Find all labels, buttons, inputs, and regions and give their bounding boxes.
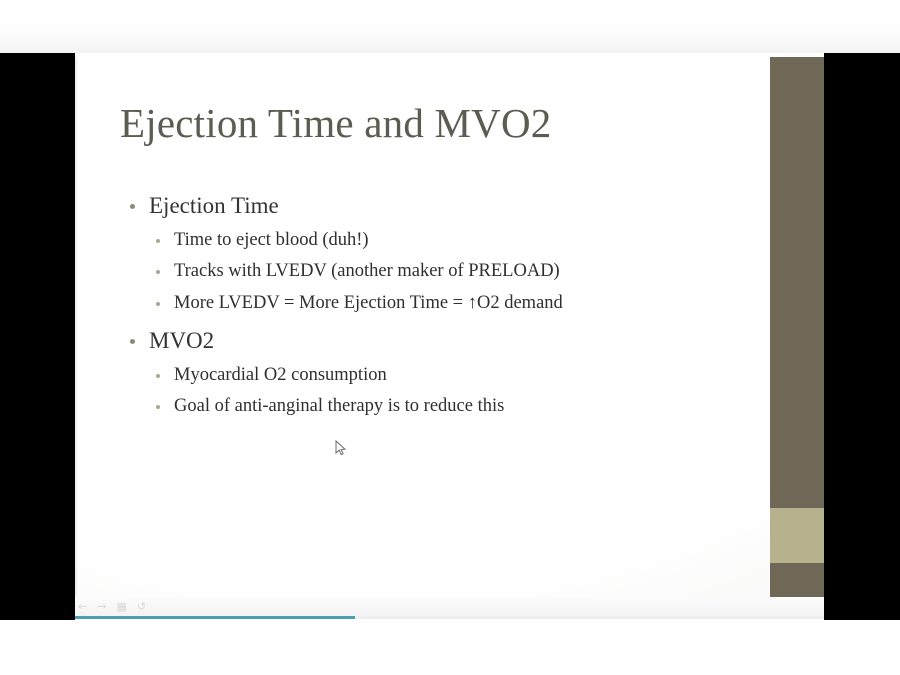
bullet-group: Ejection Time Time to eject blood (duh!)… — [121, 193, 741, 314]
bullet-level2-label: Tracks with LVEDV (another maker of PREL… — [174, 261, 560, 281]
bullet-dot-icon — [130, 339, 135, 344]
bullet-level1-label: Ejection Time — [149, 193, 279, 218]
bullet-dot-icon — [156, 239, 160, 243]
letterbox-left — [0, 53, 75, 620]
player-controls[interactable]: ← → ▦ ↺ — [78, 600, 146, 614]
letterbox-right — [824, 53, 900, 620]
progress-bar-fill — [75, 616, 355, 619]
bullet-dot-icon — [156, 302, 160, 306]
bullet-dot-icon — [156, 374, 160, 378]
bullet-level2: Myocardial O2 consumption — [121, 365, 741, 386]
bullet-level2: Tracks with LVEDV (another maker of PREL… — [121, 261, 741, 282]
slide-canvas: Ejection Time and MVO2 Ejection Time Tim… — [75, 57, 824, 618]
bullet-dot-icon — [130, 204, 135, 209]
bullet-level1-label: MVO2 — [149, 328, 214, 353]
bullet-level1: Ejection Time — [121, 193, 741, 219]
previous-slide-icon[interactable]: ← — [78, 600, 87, 614]
loop-icon[interactable]: ↺ — [137, 600, 146, 614]
next-slide-icon[interactable]: → — [97, 600, 106, 614]
mouse-pointer — [335, 440, 347, 456]
decorative-band-highlight — [770, 508, 824, 563]
bullet-group: MVO2 Myocardial O2 consumption Goal of a… — [121, 328, 741, 417]
bullet-level2-label: Myocardial O2 consumption — [174, 365, 387, 385]
bullet-level1: MVO2 — [121, 328, 741, 354]
presentation-viewer: Ejection Time and MVO2 Ejection Time Tim… — [0, 0, 900, 675]
bullet-level2: More LVEDV = More Ejection Time = ↑O2 de… — [121, 293, 741, 314]
letterbox-bottom — [0, 620, 900, 675]
decorative-band-upper — [770, 57, 824, 508]
progress-bar-track[interactable] — [75, 616, 824, 619]
bullet-level2-label: Goal of anti-anginal therapy is to reduc… — [174, 396, 504, 416]
bullet-level2-label: More LVEDV = More Ejection Time = ↑O2 de… — [174, 293, 563, 313]
slide-body: Ejection Time Time to eject blood (duh!)… — [121, 193, 741, 417]
bullet-dot-icon — [156, 270, 160, 274]
bullet-level2-label: Time to eject blood (duh!) — [174, 230, 369, 250]
bullet-level2: Goal of anti-anginal therapy is to reduc… — [121, 396, 741, 417]
slide-thumbnails-icon[interactable]: ▦ — [116, 600, 126, 614]
player-control-bar[interactable]: ← → ▦ ↺ — [75, 597, 824, 618]
bullet-level2: Time to eject blood (duh!) — [121, 230, 741, 251]
slide-title: Ejection Time and MVO2 — [120, 101, 740, 146]
letterbox-top — [0, 0, 900, 53]
bullet-dot-icon — [156, 405, 160, 409]
